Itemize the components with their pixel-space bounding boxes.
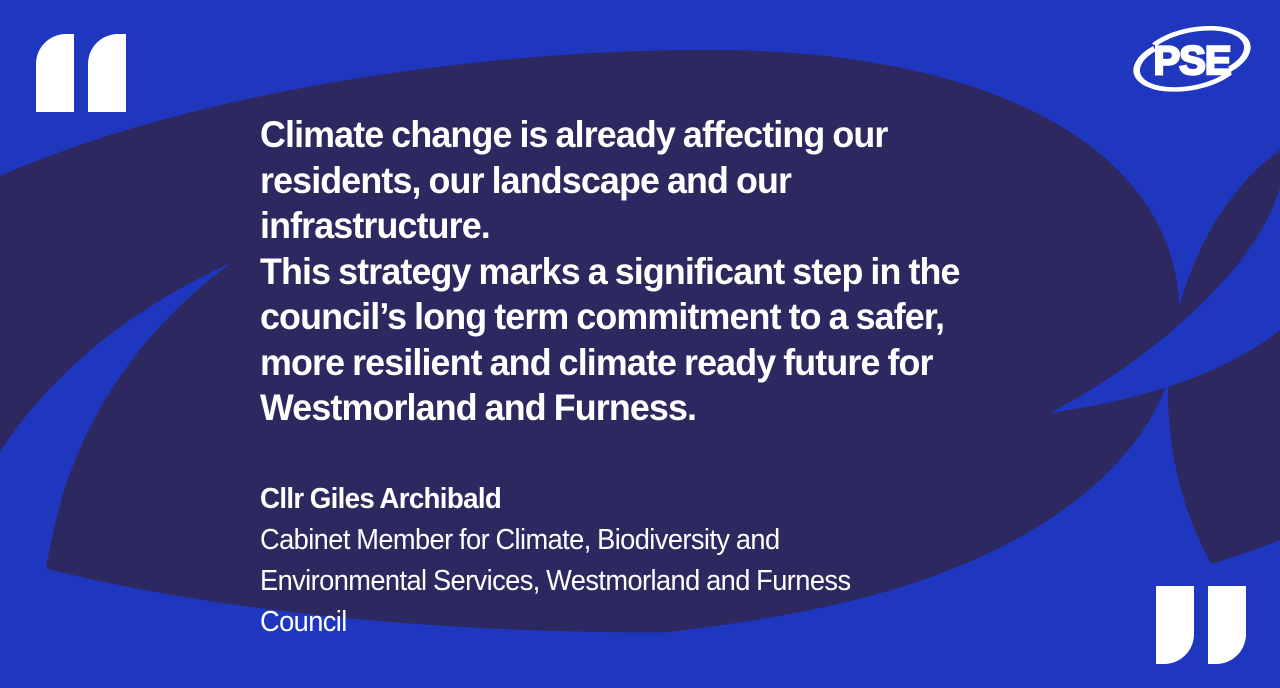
- open-quotation-mark-icon: [36, 34, 126, 112]
- close-quotation-mark-icon: [1156, 586, 1246, 664]
- attribution-block: Cllr Giles Archibald Cabinet Member for …: [260, 431, 1024, 643]
- attribution-role: Cabinet Member for Climate, Biodiversity…: [260, 520, 1024, 643]
- quote-text: Climate change is already affecting ourr…: [260, 112, 1024, 431]
- quote-line: This strategy marks a significant step i…: [260, 250, 960, 292]
- attribution-role-line: Council: [260, 606, 347, 638]
- quote-content: Climate change is already affecting ourr…: [260, 112, 1060, 643]
- attribution-role-line: Environmental Services, Westmorland and …: [260, 565, 851, 597]
- quote-line: Climate change is already affecting our: [260, 113, 887, 155]
- attribution-name: Cllr Giles Archibald: [260, 479, 1024, 520]
- quote-line: council’s long term commitment to a safe…: [260, 295, 944, 337]
- quote-line: more resilient and climate ready future …: [260, 341, 933, 383]
- pse-logo[interactable]: PSE: [1124, 20, 1260, 98]
- quote-line: Westmorland and Furness.: [260, 386, 696, 428]
- logo-text: PSE: [1153, 39, 1230, 83]
- attribution-role-line: Cabinet Member for Climate, Biodiversity…: [260, 524, 780, 556]
- quote-card: PSE Climate change is already affecting …: [0, 0, 1280, 688]
- quote-line: residents, our landscape and our infrast…: [260, 159, 791, 247]
